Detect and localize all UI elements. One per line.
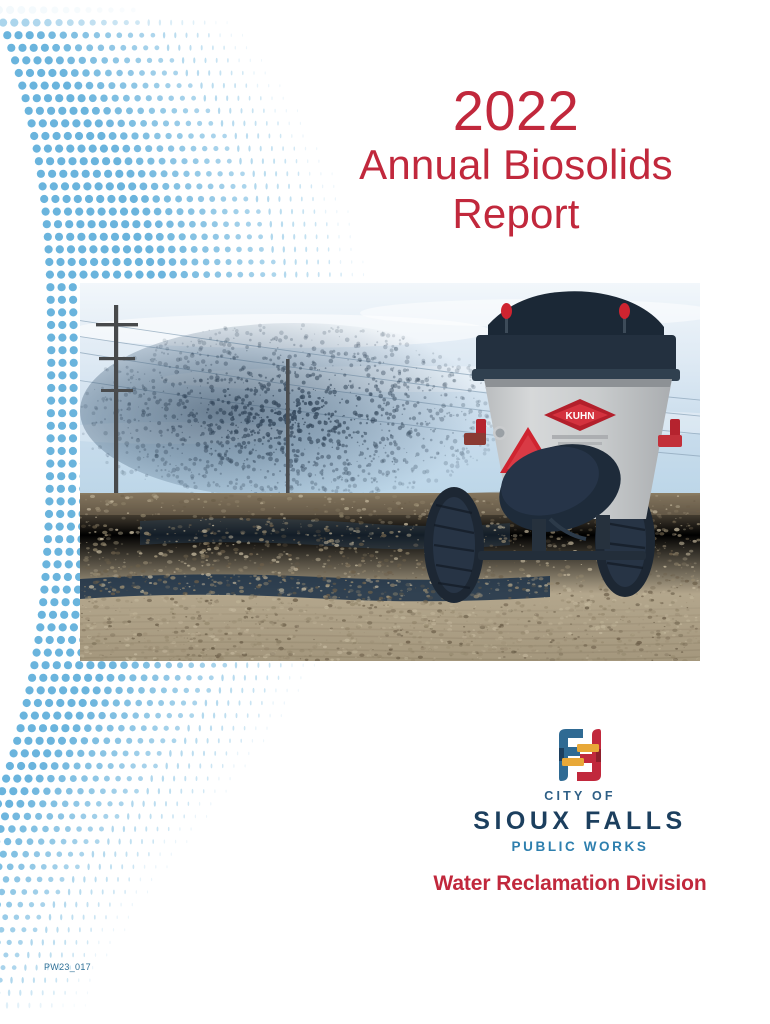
logo-city-name-text: SIOUX FALLS xyxy=(430,807,730,836)
city-logo-lockup: CITY OF SIOUX FALLS PUBLIC WORKS xyxy=(430,726,730,854)
cover-title-block: 2022 Annual Biosolids Report xyxy=(306,82,726,237)
report-title-line-1: Annual Biosolids xyxy=(306,141,726,188)
sf-monogram-icon xyxy=(549,726,611,784)
logo-department-text: PUBLIC WORKS xyxy=(430,840,730,855)
utility-pole-middle xyxy=(286,359,290,507)
photo-illustration: KUHN xyxy=(80,283,700,661)
report-cover-page: 2022 Annual Biosolids Report xyxy=(0,0,770,1024)
logo-city-of-text: CITY OF xyxy=(430,790,730,804)
cover-photograph: KUHN xyxy=(80,283,700,661)
tail-light-right xyxy=(670,419,680,437)
report-title-line-2: Report xyxy=(306,190,726,237)
spreader-tire-left xyxy=(424,487,484,603)
report-year: 2022 xyxy=(306,82,726,139)
division-label: Water Reclamation Division xyxy=(400,872,740,896)
document-code: PW23_017 xyxy=(44,962,91,972)
